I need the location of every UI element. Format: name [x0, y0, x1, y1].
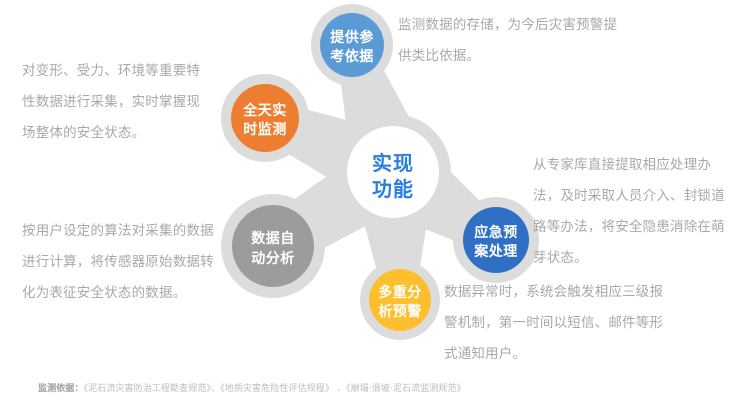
center-label-line2: 功能 — [372, 177, 414, 201]
node-label1-emergency-plan: 应急预 — [474, 224, 518, 241]
footer-standards: 监测依据：《泥石流灾害防治工程勘查规范》、《地质灾害危险性评估规程》 、《崩塌·… — [38, 381, 466, 394]
node-label1-reference-basis: 提供参 — [330, 29, 374, 46]
text-data-collection: 对变形、受力、环境等重要特性数据进行采集，实时掌握现场整体的安全状态。 — [22, 56, 208, 149]
node-label1-auto-data-analysis: 数据自 — [251, 230, 295, 247]
text-emergency-handling: 从专家库直接提取相应处理办法，及时采取人员介入、封锁道路等办法，将安全隐患消除在… — [533, 150, 738, 274]
node-reference-basis[interactable]: 提供参考依据 — [320, 13, 384, 77]
text-alert-notification: 数据异常时，系统会触发相应三级报警机制，第一时间以短信、邮件等形式通知用户。 — [444, 277, 674, 370]
node-label2-auto-data-analysis: 动分析 — [251, 250, 295, 267]
node-label2-reference-basis: 考依据 — [330, 48, 374, 65]
footer-body: 《泥石流灾害防治工程勘查规范》、《地质灾害危险性评估规程》 、《崩塌·滑坡·泥石… — [84, 384, 466, 394]
center-node: 实现功能 — [347, 126, 439, 218]
infographic-canvas: 实现功能 提供参考依据全天实时监测数据自动分析多重分析预警应急预案处理 对变形、… — [0, 0, 744, 411]
node-label2-multi-level-alert: 析预警 — [378, 303, 422, 320]
center-label-line1: 实现 — [372, 151, 414, 175]
node-label2-emergency-plan: 案处理 — [473, 243, 518, 260]
node-multi-level-alert[interactable]: 多重分析预警 — [369, 269, 431, 331]
node-all-day-monitoring[interactable]: 全天实时监测 — [231, 84, 299, 152]
text-reference-basis: 监测数据的存储，为今后灾害预警提供类比依据。 — [398, 10, 628, 72]
node-label2-all-day-monitoring: 时监测 — [243, 121, 287, 138]
node-auto-data-analysis[interactable]: 数据自动分析 — [232, 205, 314, 287]
node-label1-all-day-monitoring: 全天实 — [242, 102, 287, 119]
footer-label: 监测依据： — [38, 384, 84, 394]
node-emergency-plan[interactable]: 应急预案处理 — [463, 207, 529, 273]
text-data-computation: 按用户设定的算法对采集的数据进行计算，将传感器原始数据转化为表征安全状态的数据。 — [22, 216, 214, 309]
node-label1-multi-level-alert: 多重分 — [378, 284, 422, 301]
